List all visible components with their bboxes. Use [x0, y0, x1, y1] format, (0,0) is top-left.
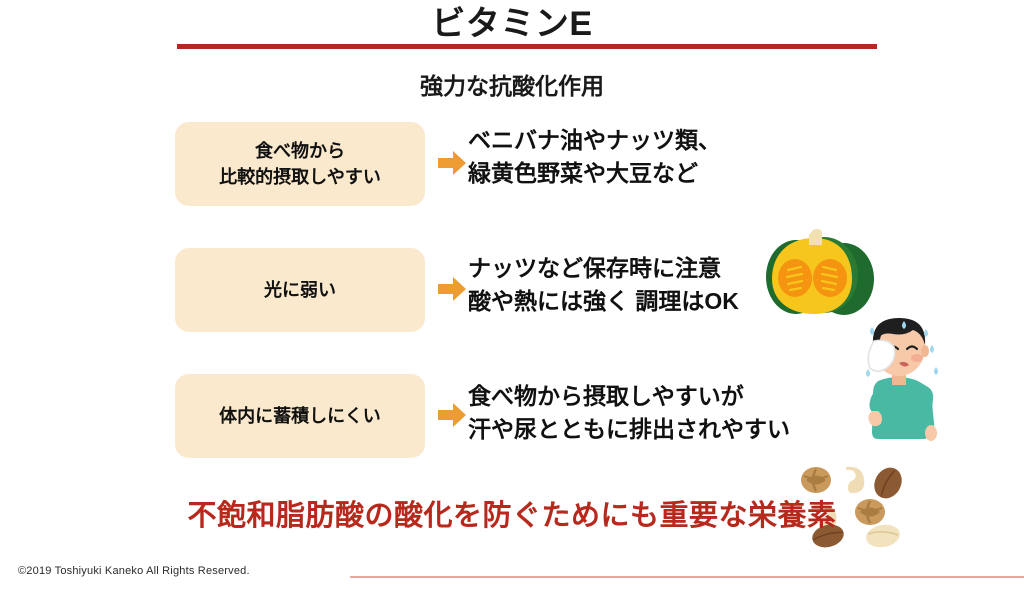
row-label-box: 食べ物から 比較的摂取しやすい	[175, 122, 425, 206]
conclusion-text: 不飽和脂肪酸の酸化を防ぐためにも重要な栄養素	[0, 492, 1024, 534]
row-detail-text: ベニバナ油やナッツ類、 緑黄色野菜や大豆など	[468, 124, 868, 189]
page-title: ビタミンE	[0, 4, 1024, 45]
row-detail-text: ナッツなど保存時に注意 酸や熱には強く 調理はOK	[468, 252, 868, 317]
arrow-right-icon	[437, 400, 467, 430]
row-label-text: 食べ物から 比較的摂取しやすい	[219, 138, 381, 190]
arrow-right-icon	[437, 148, 467, 178]
row-label-box: 体内に蓄積しにくい	[175, 374, 425, 458]
footer-divider	[350, 576, 1024, 578]
sweating-person-illustration	[852, 303, 944, 453]
title-divider	[177, 44, 877, 49]
slide-canvas: ビタミンE 強力な抗酸化作用 食べ物から 比較的摂取しやすい ベニバナ油やナッツ…	[0, 0, 1024, 589]
row-label-text: 体内に蓄積しにくい	[219, 403, 381, 429]
row-label-box: 光に弱い	[175, 248, 425, 332]
copyright-notice: ©2019 Toshiyuki Kaneko All Rights Reserv…	[18, 565, 250, 577]
page-subtitle: 強力な抗酸化作用	[0, 67, 1024, 101]
arrow-right-icon	[437, 274, 467, 304]
row-detail-text: 食べ物から摂取しやすいが 汗や尿とともに排出されやすい	[468, 380, 868, 445]
row-label-text: 光に弱い	[264, 277, 336, 303]
content-row: 食べ物から 比較的摂取しやすい ベニバナ油やナッツ類、 緑黄色野菜や大豆など	[0, 118, 1024, 210]
